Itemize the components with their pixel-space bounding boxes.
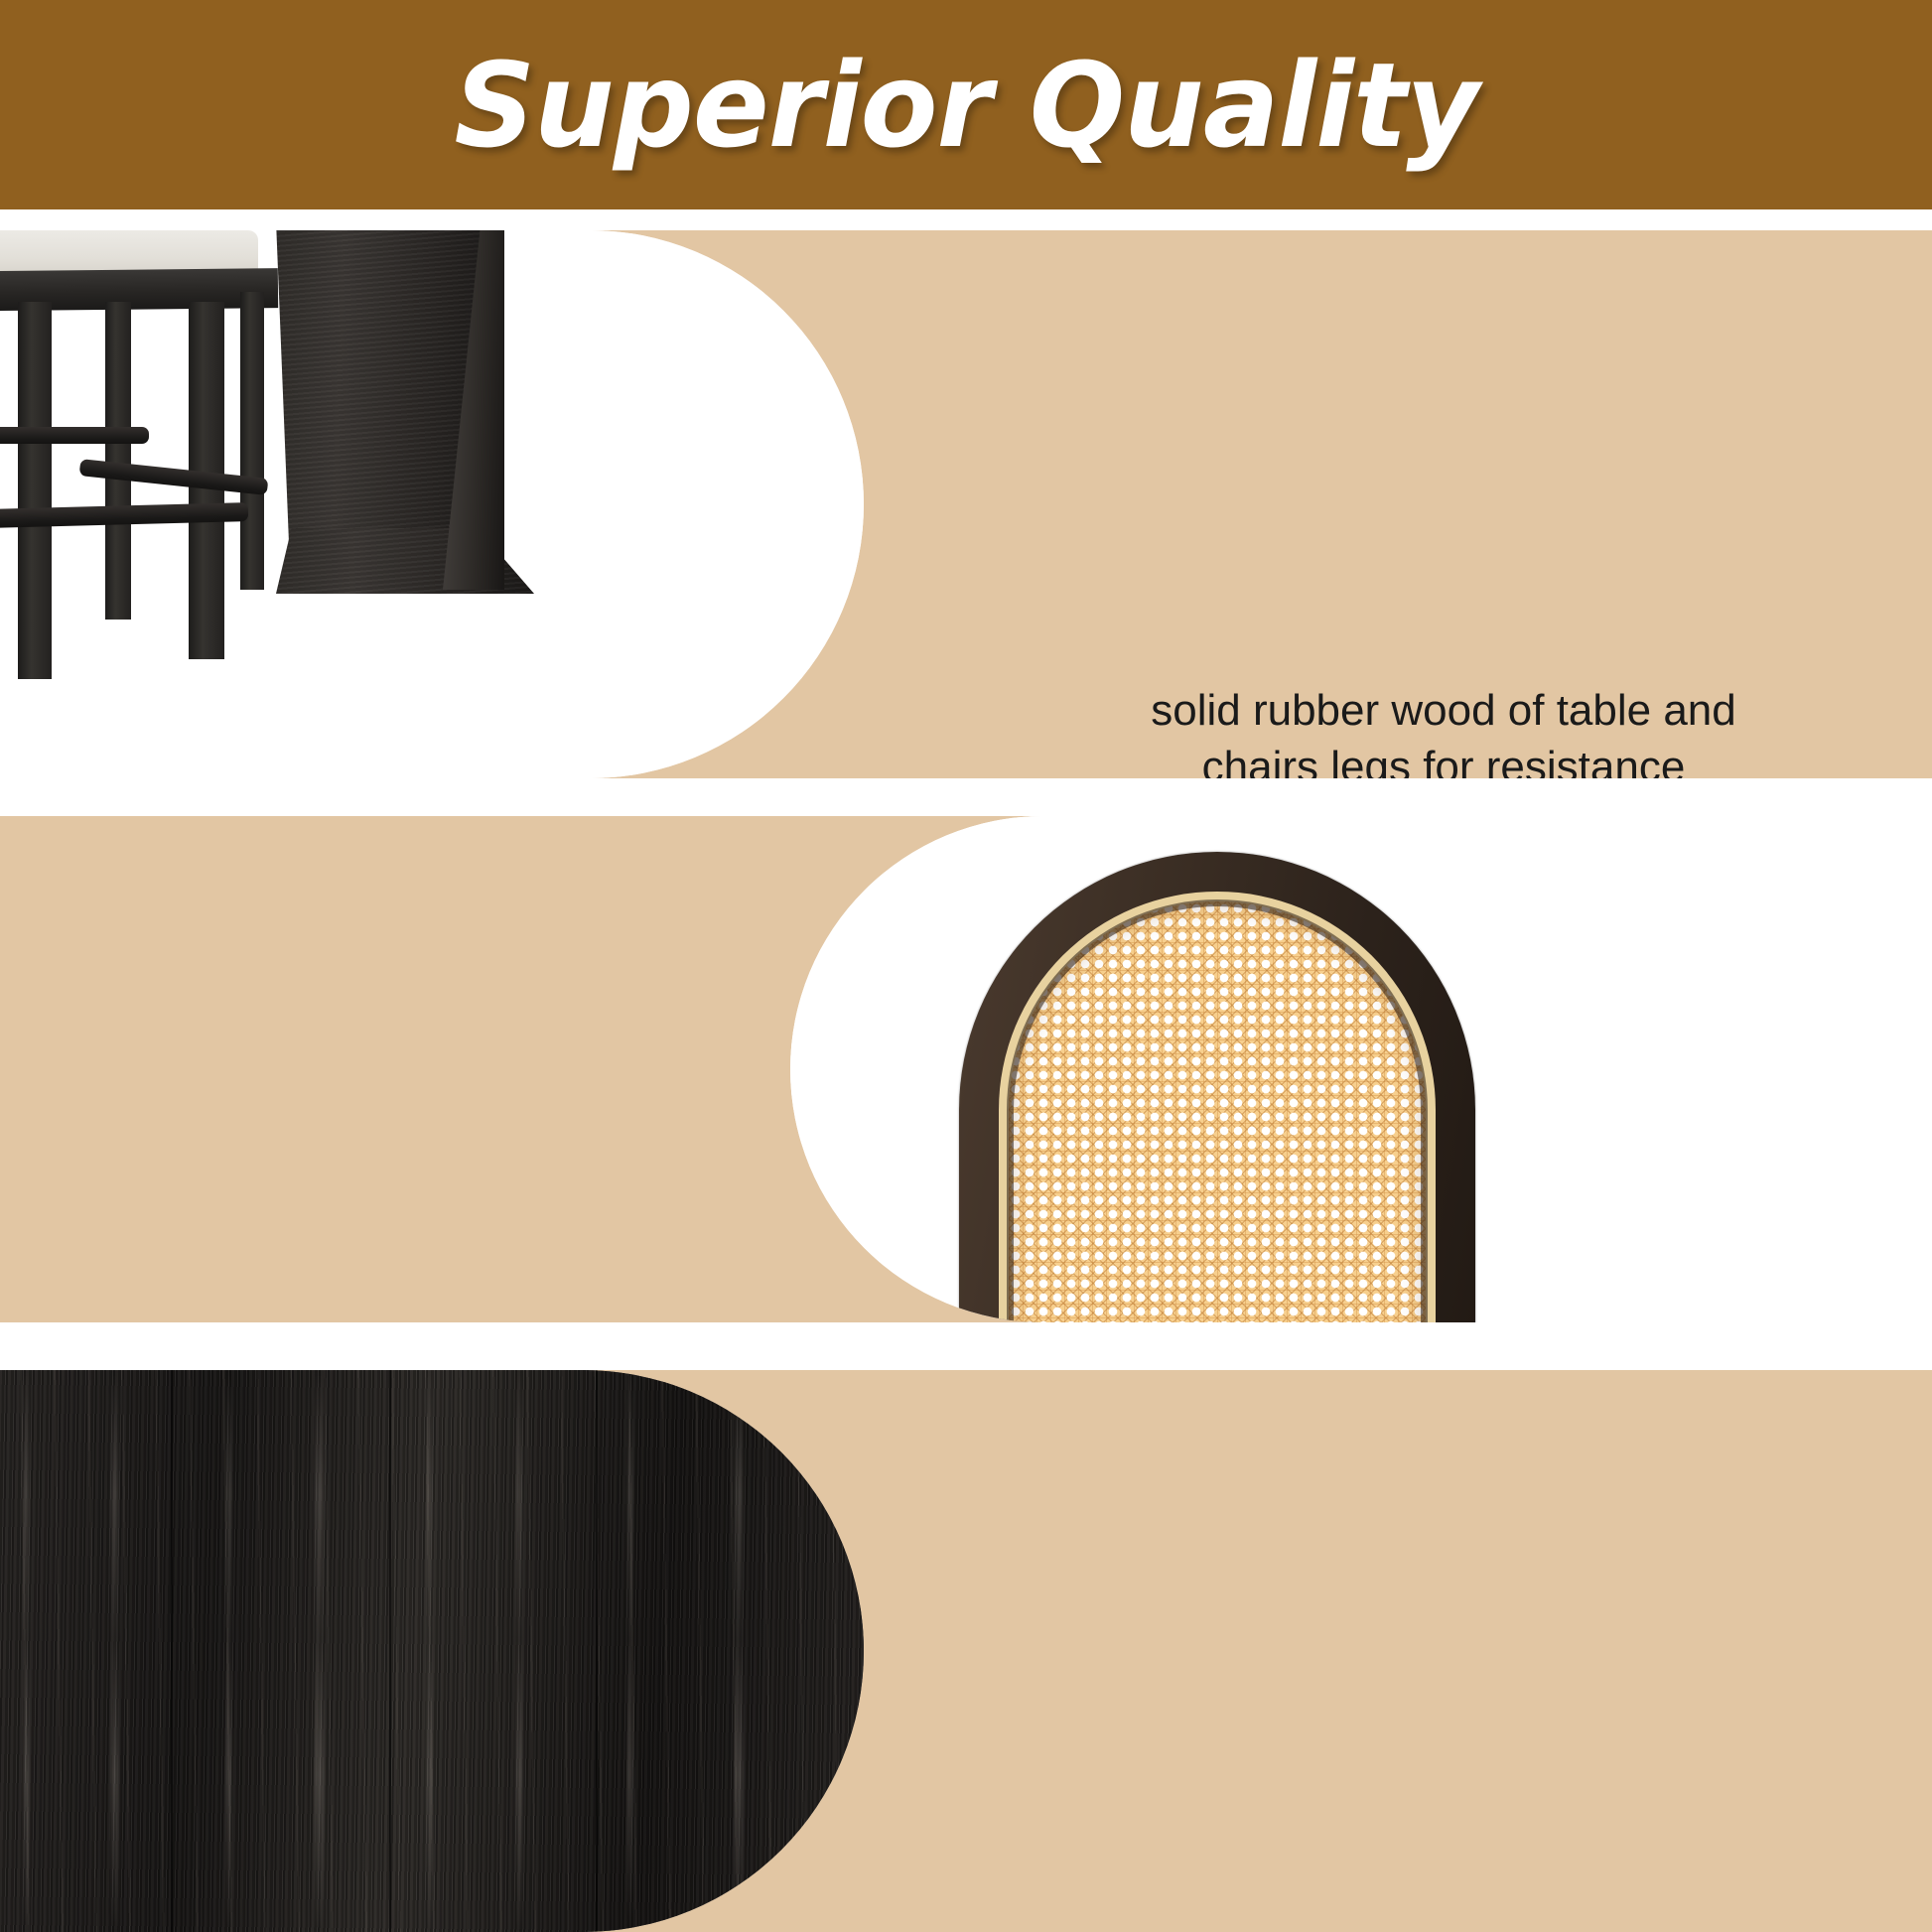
- wood-grain-streak: [627, 1370, 632, 1932]
- chair-stretcher-upper: [0, 427, 149, 444]
- wood-plank-seam: [389, 1370, 391, 1932]
- wood-grain-streak: [226, 1370, 231, 1932]
- caption-legs: solid rubber wood of table and chairs le…: [1066, 682, 1821, 778]
- chair-leg-back-left: [105, 302, 131, 620]
- wood-plank-seam: [171, 1370, 173, 1932]
- photo-frame-tabletop: [0, 1370, 864, 1932]
- header-banner: Superior Quality: [0, 0, 1932, 209]
- photo-frame-legs: [0, 230, 864, 778]
- photo-frame-rattan: [790, 816, 1932, 1322]
- feature-panel-tabletop: high-quality MDF with oak veneer of tabl…: [0, 1370, 1932, 1932]
- chair-leg-back-right: [240, 292, 264, 590]
- page-title: Superior Quality: [454, 47, 1478, 164]
- wood-plank-seam: [596, 1370, 598, 1932]
- rattan-cane-webbing: [1009, 901, 1426, 1322]
- wood-grain-streak: [516, 1370, 522, 1932]
- wood-grain-streak: [735, 1370, 743, 1932]
- black-table-and-chair-legs-photo: [0, 230, 864, 778]
- wood-grain-streak: [315, 1370, 324, 1932]
- chair-leg-front-left: [18, 302, 52, 679]
- wood-grain-streak: [24, 1370, 29, 1932]
- wood-grain-streak: [111, 1370, 118, 1932]
- wood-grain-streak: [427, 1370, 432, 1932]
- black-oak-veneer-tabletop-photo: [0, 1370, 864, 1932]
- feature-panel-rattan: PVC rattan backrests for visual interest…: [0, 816, 1932, 1322]
- feature-panel-legs: solid rubber wood of table and chairs le…: [0, 230, 1932, 778]
- arched-rattan-cane-chair-backrest-photo: [790, 816, 1932, 1322]
- chair-back-wood-frame: [959, 852, 1475, 1322]
